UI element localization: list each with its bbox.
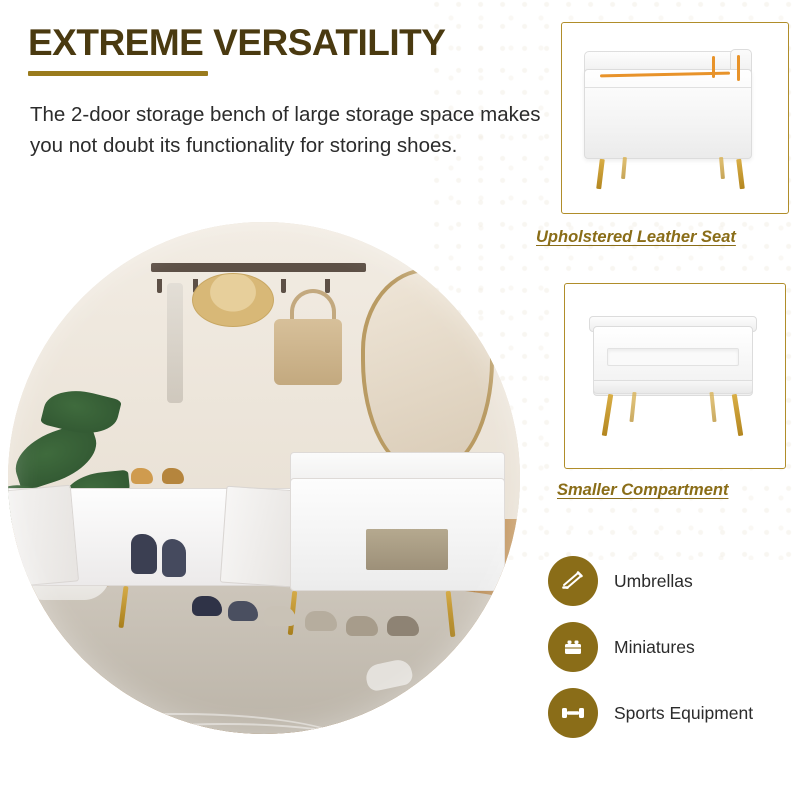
bench-drawer xyxy=(366,529,448,570)
bullet-label-umbrellas: Umbrellas xyxy=(614,571,693,592)
hanging-scarf xyxy=(167,283,183,403)
feature-card-smaller-compartment xyxy=(564,283,786,469)
cabinet-door-left-open xyxy=(8,485,79,589)
list-item: Sports Equipment xyxy=(548,680,798,746)
bench2-leg-front-left xyxy=(602,394,614,436)
feature-card-upholstered-seat xyxy=(561,22,789,214)
cabinet-door-right-open xyxy=(220,486,298,588)
shoe-on-shelf xyxy=(162,468,184,484)
shoe-pair xyxy=(228,601,258,621)
bench-leg-front-right xyxy=(736,159,745,189)
list-item: Umbrellas xyxy=(548,548,798,614)
shoe-pair xyxy=(346,616,378,636)
shoe-pair xyxy=(387,616,419,636)
headline-underline xyxy=(28,71,208,76)
bullet-label-sports-equipment: Sports Equipment xyxy=(614,703,753,724)
back-accent-stripe-2 xyxy=(737,55,740,81)
headline-block: EXTREME VERSATILITY xyxy=(28,24,548,76)
toy-blocks-icon xyxy=(548,622,598,672)
straw-tote-bag xyxy=(274,319,342,385)
lifestyle-photo xyxy=(8,222,520,734)
seat-seam-line xyxy=(585,87,751,88)
feature-bullet-list: Umbrellas Miniatures xyxy=(548,548,798,746)
product-infographic-page: EXTREME VERSATILITY The 2-door storage b… xyxy=(0,0,800,800)
bench-leg-rear-right xyxy=(719,157,725,179)
wall-mirror xyxy=(361,268,494,473)
bench-leg-rear-left xyxy=(621,157,627,179)
bench-base xyxy=(593,380,753,394)
shoe-on-shelf xyxy=(131,468,153,484)
coat-hook xyxy=(157,279,162,293)
bench2-leg-rear-left xyxy=(629,392,636,422)
description-text: The 2-door storage bench of large storag… xyxy=(30,100,555,162)
list-item: Miniatures xyxy=(548,614,798,680)
shoe-boot xyxy=(162,539,186,577)
shoe-boot xyxy=(131,534,157,574)
bullet-label-miniatures: Miniatures xyxy=(614,637,695,658)
bench-leg-front-left xyxy=(596,159,605,189)
caption-upholstered-seat: Upholstered Leather Seat xyxy=(536,228,736,247)
bench-body xyxy=(584,69,752,159)
bench2-leg-rear-right xyxy=(709,392,716,422)
umbrella-icon xyxy=(548,556,598,606)
area-rug xyxy=(8,580,520,734)
shoe-pair xyxy=(305,611,337,631)
coat-rail xyxy=(151,263,366,272)
caption-smaller-compartment: Smaller Compartment xyxy=(557,481,728,500)
coat-hook xyxy=(281,279,286,293)
shoe-pair xyxy=(264,606,296,626)
page-title: EXTREME VERSATILITY xyxy=(28,24,548,63)
dumbbell-icon xyxy=(548,688,598,738)
back-accent-stripe-1 xyxy=(712,56,715,78)
coat-hook xyxy=(325,279,330,293)
compartment-opening xyxy=(607,348,739,366)
bench2-leg-front-right xyxy=(732,394,744,436)
straw-hat xyxy=(192,273,274,327)
room-scene xyxy=(8,222,520,734)
